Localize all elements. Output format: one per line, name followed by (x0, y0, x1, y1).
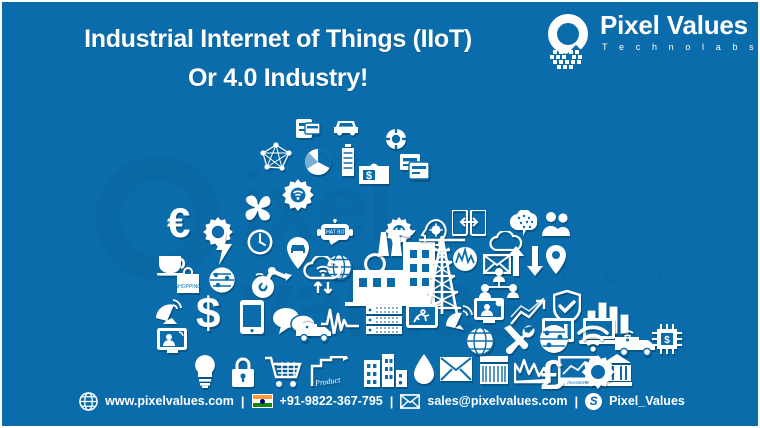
footer-item-phone[interactable]: +91-9822-367-795 (252, 394, 383, 408)
power-pylon-icon (417, 236, 467, 314)
footer-item-skype[interactable]: S Pixel_Values (585, 393, 685, 410)
video-call-icon (474, 298, 506, 326)
gear-wifi-icon (281, 178, 315, 212)
runner-screen-icon (406, 304, 438, 330)
money-bill-icon: $ (358, 162, 390, 186)
svg-text:CHAT BOT: CHAT BOT (323, 230, 348, 236)
wifi-signal-icon (577, 324, 609, 352)
delivery-truck-wifi-icon (295, 316, 335, 342)
website-text: www.pixelvalues.com (105, 394, 234, 408)
footer-item-website[interactable]: www.pixelvalues.com (79, 392, 234, 411)
cloud-wifi-sync-icon (302, 256, 346, 300)
fan-blades-icon (240, 190, 276, 226)
contact-footer: www.pixelvalues.com | +91-9822-367-795 |… (2, 378, 760, 424)
location-pin-icon (545, 245, 567, 275)
page-title: Industrial Internet of Things (IIoT) Or … (18, 20, 538, 98)
arrow-down-icon (526, 246, 544, 276)
people-pair-icon (541, 211, 571, 237)
server-rack-icon (366, 306, 402, 334)
credit-card-window-icon (400, 154, 430, 180)
lifebuoy-icon (385, 128, 407, 150)
iiot-promo-banner: ixel values t e c h Industrial Internet … (0, 0, 760, 428)
skype-text: Pixel_Values (609, 394, 685, 408)
battery-icon (342, 144, 354, 178)
email-text: sales@pixelvalues.com (427, 394, 567, 408)
footer-separator: | (390, 394, 394, 409)
robot-arm-icon (250, 261, 294, 301)
tablet-card-icon (295, 117, 321, 141)
people-grid-icon (478, 268, 520, 298)
title-line-2: Or 4.0 Industry! (18, 59, 538, 98)
split-screen-gear-icon (452, 210, 486, 236)
svg-text:$: $ (366, 170, 372, 182)
globe-icon (465, 326, 495, 356)
logo-name: Pixel Values (600, 10, 748, 41)
pixel-o-ring-icon (544, 14, 596, 66)
truck-wifi-icon (614, 328, 660, 356)
data-hub-icon (538, 324, 570, 354)
iiot-icon-collage: $ CHAT BOT € (2, 106, 760, 380)
network-nodes-icon (260, 142, 292, 172)
brain-icon (507, 210, 541, 240)
dollar-sign-icon: $ (196, 292, 220, 336)
envelope-icon (400, 394, 420, 409)
user-monitor-icon (157, 328, 191, 356)
phone-text: +91-9822-367-795 (280, 394, 383, 408)
lightning-bolt-icon (215, 231, 233, 265)
footer-item-email[interactable]: sales@pixelvalues.com (400, 394, 567, 409)
skype-icon: S (585, 393, 602, 410)
svg-text:$: $ (664, 335, 670, 346)
euro-sign-icon: € (167, 202, 190, 244)
logo-subtitle: T e c h n o l a b s (602, 42, 758, 52)
clock-icon (246, 228, 274, 256)
brand-logo[interactable]: Pixel Values T e c h n o l a b s (544, 12, 748, 68)
satellite-dish-icon (154, 298, 186, 326)
footer-separator: | (241, 394, 245, 409)
car-icon (332, 117, 360, 137)
footer-separator: | (574, 394, 578, 409)
pie-chart-icon (304, 148, 332, 176)
wrench-screwdriver-icon (502, 324, 536, 354)
tablet-icon (240, 300, 264, 334)
india-flag-icon (252, 394, 273, 408)
globe-icon (79, 392, 98, 411)
banner-header: Industrial Internet of Things (IIoT) Or … (2, 2, 760, 110)
title-line-1: Industrial Internet of Things (IIoT) (84, 25, 472, 53)
